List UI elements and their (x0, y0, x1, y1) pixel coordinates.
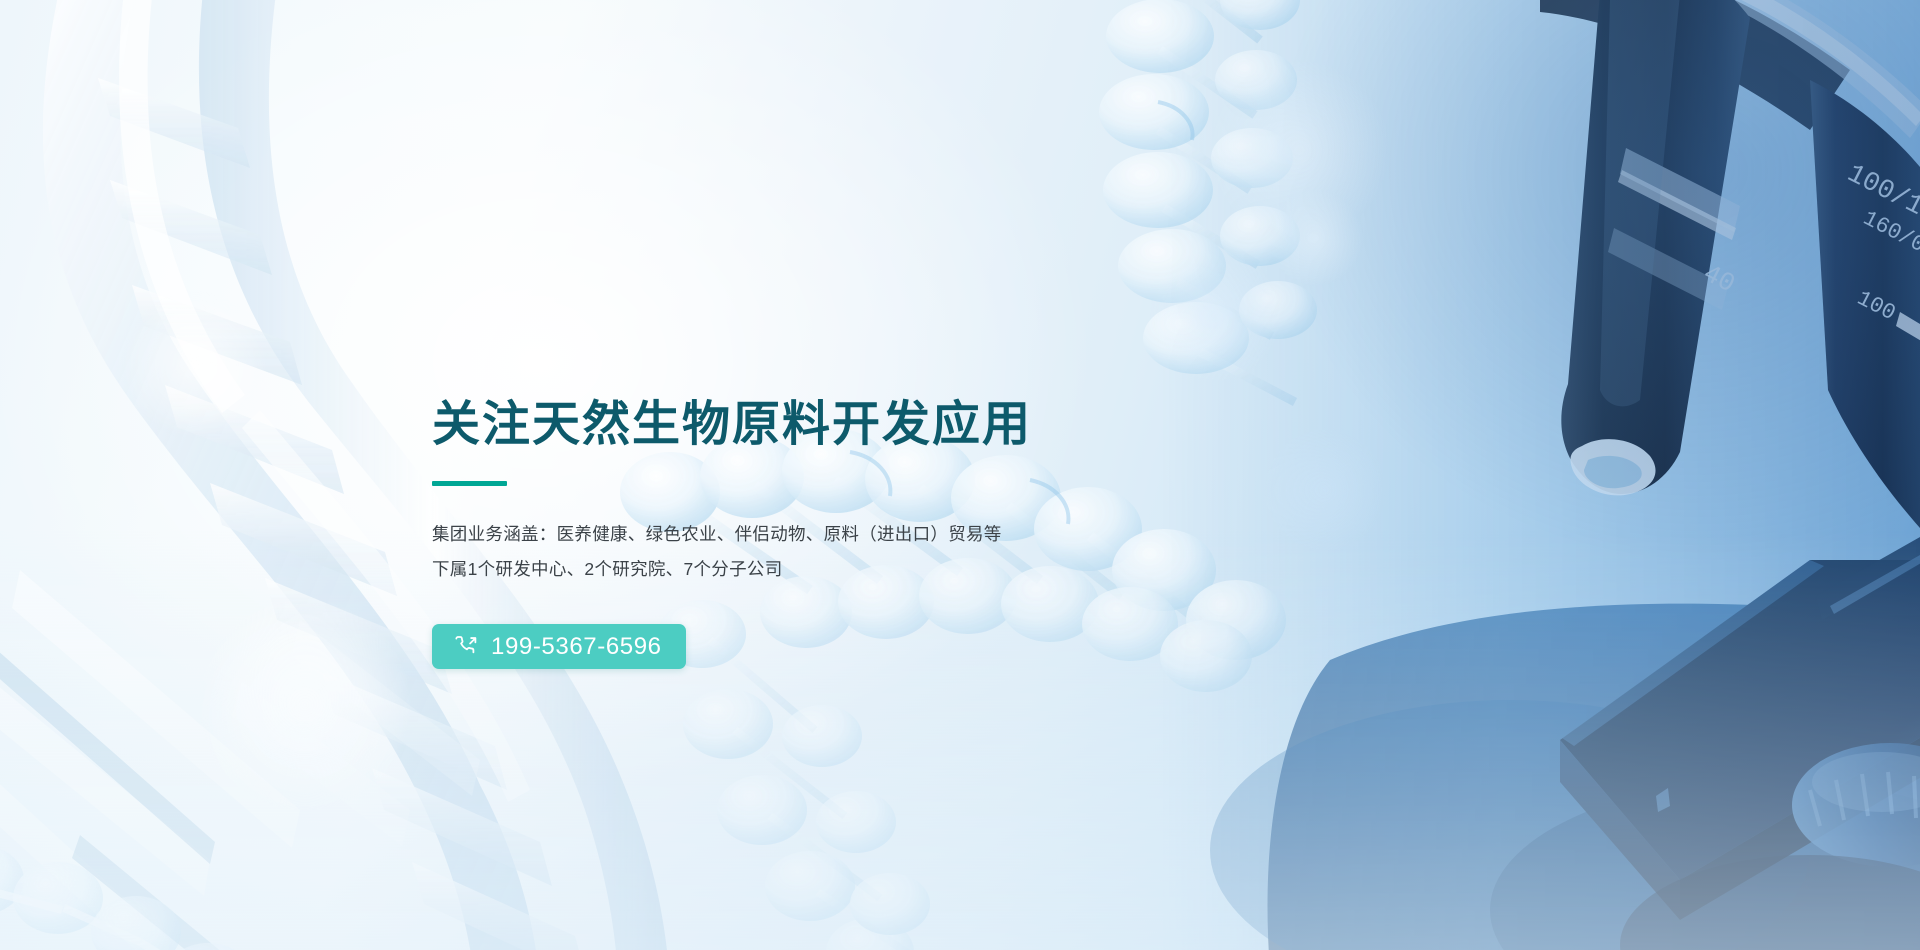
hero-description: 集团业务涵盖：医养健康、绿色农业、伴侣动物、原料（进出口）贸易等 下属1个研发中… (432, 517, 1252, 588)
phone-outgoing-icon (453, 634, 478, 659)
page-title: 关注天然生物原料开发应用 (432, 398, 1252, 452)
hero-description-line-2: 下属1个研发中心、2个研究院、7个分子公司 (432, 552, 1252, 587)
hero-content: 关注天然生物原料开发应用 集团业务涵盖：医养健康、绿色农业、伴侣动物、原料（进出… (432, 398, 1252, 669)
phone-number-label: 199-5367-6596 (491, 635, 662, 659)
hero-description-line-1: 集团业务涵盖：医养健康、绿色农业、伴侣动物、原料（进出口）贸易等 (432, 517, 1252, 552)
right-color-wash (1160, 0, 1920, 950)
title-divider (432, 481, 507, 486)
phone-cta-button[interactable]: 199-5367-6596 (432, 624, 686, 669)
hero-banner: 100/1.25 160/0.17 100 40 (0, 0, 1920, 950)
